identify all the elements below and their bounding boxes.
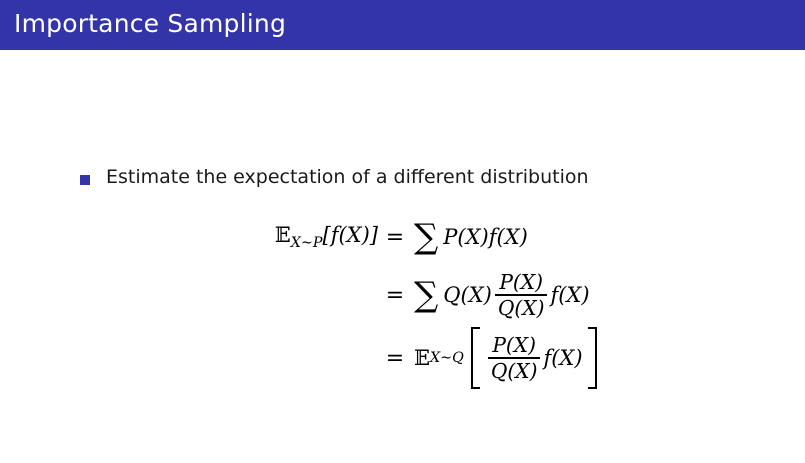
- equation-line-2-factor: Q(X): [443, 283, 492, 307]
- expectation-subscript-3: X∼Q: [430, 350, 464, 366]
- expectation-symbol: 𝔼: [275, 223, 291, 247]
- slide-title-bar: Importance Sampling: [0, 0, 805, 50]
- expectation-symbol-3: 𝔼: [414, 346, 430, 370]
- slide: Importance Sampling Estimate the expecta…: [0, 0, 805, 463]
- equation-line-2-tail: f(X): [550, 283, 589, 307]
- expectation-argument: [f(X)]: [323, 223, 379, 247]
- slide-content: Estimate the expectation of a different …: [0, 50, 805, 463]
- equals-sign-3: =: [378, 346, 412, 371]
- equation-line-1: 𝔼X∼P[f(X)] = ∑ P(X)f(X): [0, 210, 805, 264]
- ratio-denominator-2: Q(X): [495, 296, 548, 319]
- equals-sign-1: =: [378, 225, 412, 250]
- equation-line-3: = 𝔼X∼Q P(X) Q(X) f(X): [0, 326, 805, 390]
- bullet-item: Estimate the expectation of a different …: [80, 166, 589, 189]
- equation-line-3-rhs: 𝔼X∼Q P(X) Q(X) f(X): [412, 327, 600, 389]
- expectation-subscript: X∼P: [291, 235, 323, 251]
- equation-line-2: = ∑ Q(X) P(X) Q(X) f(X): [0, 264, 805, 326]
- summation-symbol-1: ∑: [414, 224, 438, 251]
- equation-line-1-term: P(X)f(X): [443, 225, 528, 249]
- ratio-numerator-2: P(X): [496, 271, 546, 294]
- summation-symbol-2: ∑: [414, 282, 438, 309]
- equals-sign-2: =: [378, 283, 412, 308]
- equation-line-1-rhs: ∑ P(X)f(X): [412, 223, 528, 250]
- ratio-denominator-3: Q(X): [488, 359, 541, 382]
- ratio-fraction-3: P(X) Q(X): [488, 334, 541, 382]
- equation-line-3-tail: f(X): [543, 346, 582, 370]
- bracket-open-icon: [471, 327, 482, 389]
- ratio-fraction-2: P(X) Q(X): [495, 271, 548, 319]
- equation-line-2-rhs: ∑ Q(X) P(X) Q(X) f(X): [412, 271, 590, 319]
- equation-line-1-lhs: 𝔼X∼P[f(X)]: [0, 223, 378, 251]
- ratio-numerator-3: P(X): [489, 334, 539, 357]
- bullet-item-label: Estimate the expectation of a different …: [106, 166, 589, 189]
- equation-block: 𝔼X∼P[f(X)] = ∑ P(X)f(X) = ∑ Q(X) P(X): [0, 210, 805, 390]
- bracket-close-icon: [586, 327, 597, 389]
- slide-title: Importance Sampling: [14, 9, 286, 38]
- square-bullet-icon: [80, 175, 90, 185]
